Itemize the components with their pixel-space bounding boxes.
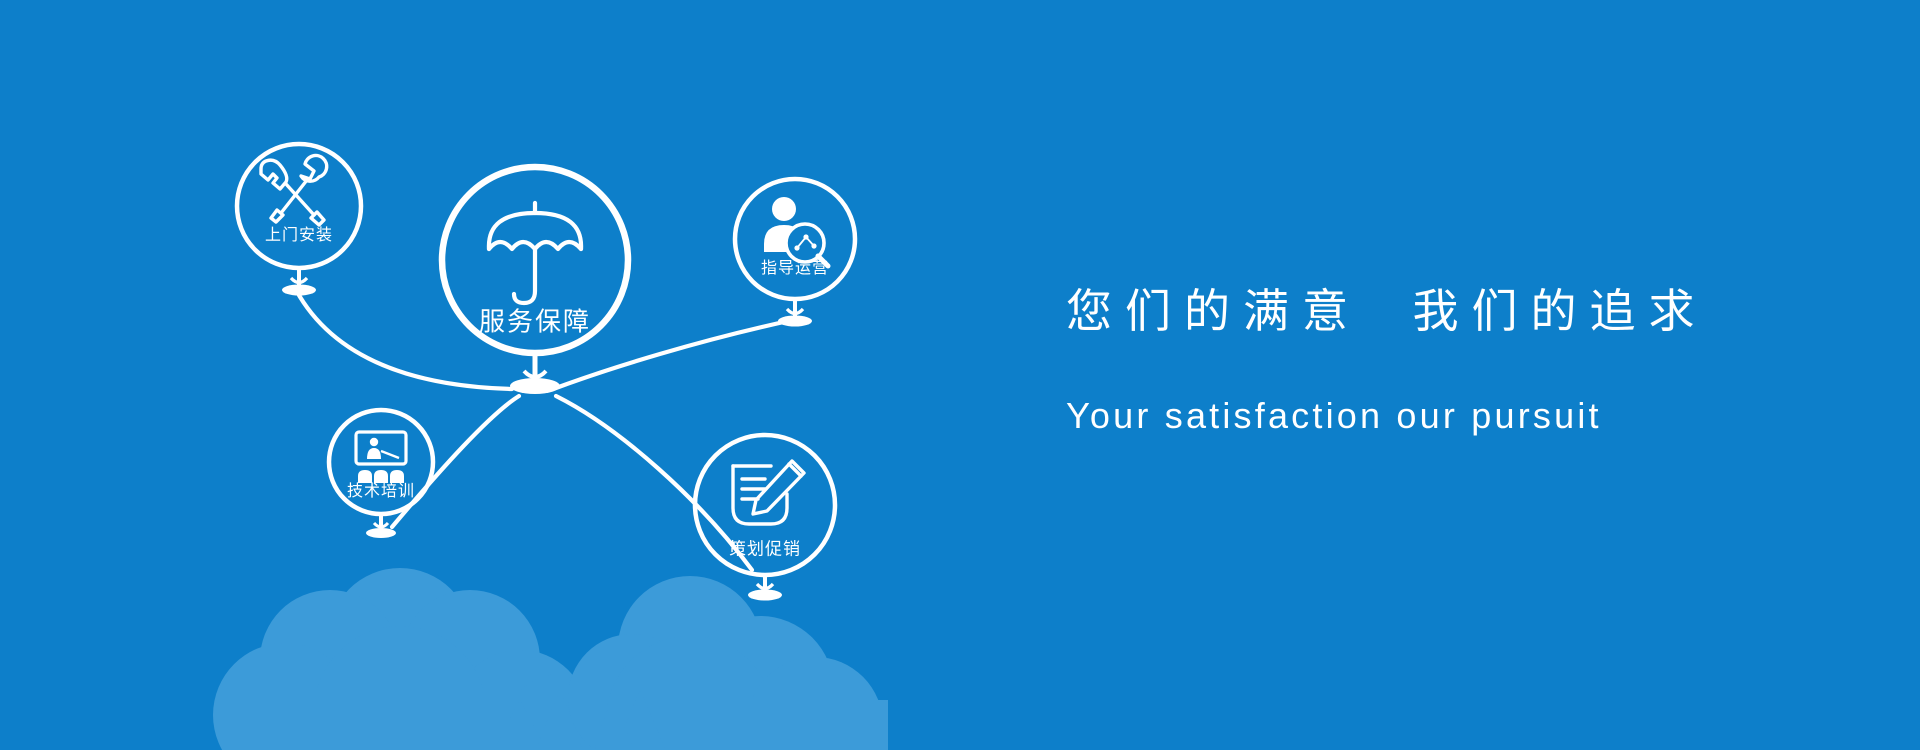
bubble-label-service-guarantee: 服务保障 [479, 302, 591, 339]
service-banner: 上门安装 服务保障 指导运营 技术培训 策划促销 您们的满意 我们的追求 You… [0, 0, 1920, 750]
headline-chinese: 您们的满意 我们的追求 [1066, 283, 1806, 341]
bubble-label-technical-training: 技术培训 [347, 477, 415, 501]
headline-english: Your satisfaction our pursuit [1066, 341, 1806, 437]
bubble-label-planning-promotion: 策划促销 [729, 535, 801, 560]
bubble-label-installation: 上门安装 [265, 221, 333, 245]
text-layer: 上门安装 服务保障 指导运营 技术培训 策划促销 您们的满意 我们的追求 You… [0, 0, 1920, 750]
headline-block: 您们的满意 我们的追求 Your satisfaction our pursui… [1066, 283, 1806, 437]
bubble-label-operation-guidance: 指导运营 [761, 254, 829, 278]
